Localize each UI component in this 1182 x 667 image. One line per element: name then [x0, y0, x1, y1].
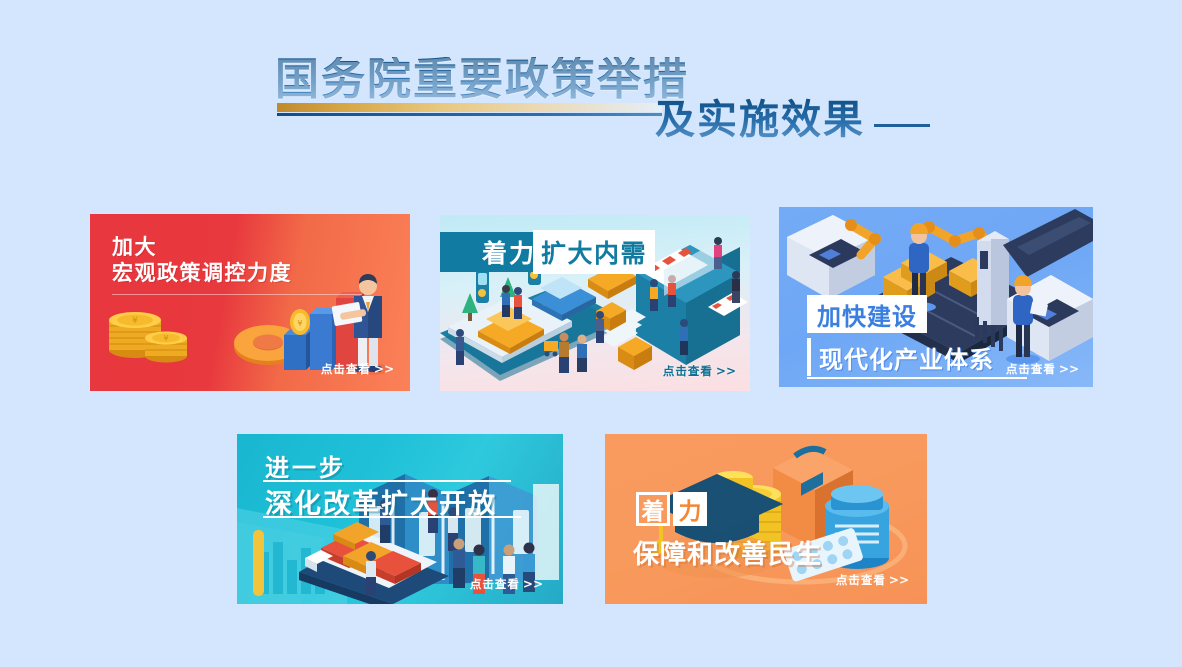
card-title-line-2: 宏观政策调控力度	[112, 260, 292, 286]
cta-link[interactable]: 点击查看>>	[321, 361, 394, 377]
cta-label: 点击查看	[663, 364, 713, 378]
title-gold-accent-bar	[277, 103, 662, 112]
card-title-rule-2	[263, 516, 521, 518]
cta-arrows-icon: >>	[374, 362, 394, 376]
card-title-line-1: 进一步	[265, 448, 346, 483]
svg-text:¥: ¥	[297, 319, 302, 328]
card-title-badge: 着力	[440, 232, 546, 272]
cta-link[interactable]: 点击查看>>	[470, 576, 543, 592]
page-title-line-2: 及实施效果	[655, 98, 865, 142]
card-title-main-box: 扩大内需	[533, 230, 655, 274]
title-blue-rule	[277, 113, 662, 116]
cta-label: 点击查看	[470, 577, 520, 591]
card-modern-industrial-system[interactable]: 加快建设 现代化产业体系 点击查看>>	[779, 207, 1093, 387]
card-title-badge-1-text: 着	[642, 492, 665, 526]
card-title-line-1: 加大	[112, 234, 292, 260]
cta-label: 点击查看	[1006, 362, 1056, 376]
card-title-badge-2: 力	[673, 492, 707, 526]
cta-arrows-icon: >>	[523, 577, 543, 591]
card-title-line-2: 现代化产业体系	[819, 340, 994, 375]
cta-label: 点击查看	[321, 362, 371, 376]
card-title-line-1: 加快建设	[817, 297, 917, 332]
card-expand-domestic-demand[interactable]: 着力 扩大内需 点击查看>>	[440, 215, 750, 391]
card-macro-policy[interactable]: ¥ ¥	[90, 214, 410, 391]
card-title-underline	[112, 294, 362, 295]
svg-text:¥: ¥	[132, 316, 138, 326]
card-title-main-text: 扩大内需	[541, 234, 647, 270]
card-deepen-reform-opening-up[interactable]: 进一步 深化改革扩大开放 点击查看>>	[237, 434, 563, 604]
card-title-badge-1: 着	[636, 492, 670, 526]
cta-link[interactable]: 点击查看>>	[663, 363, 736, 379]
card-title-underline	[807, 377, 1027, 379]
cta-link[interactable]: 点击查看>>	[836, 572, 909, 588]
page-title-line-1: 国务院重要政策举措	[275, 57, 689, 103]
cta-arrows-icon: >>	[889, 573, 909, 587]
card-title-main: 保障和改善民生	[633, 534, 822, 571]
card-title-badge-text: 着力	[482, 234, 536, 270]
card-title-line-1-box: 加快建设	[807, 295, 927, 333]
svg-text:¥: ¥	[163, 334, 168, 343]
card-improve-peoples-livelihood[interactable]: ¥	[605, 434, 927, 604]
title-trailing-dash	[874, 124, 930, 127]
card-title-line-2-box: 现代化产业体系	[807, 338, 994, 376]
cta-link[interactable]: 点击查看>>	[1006, 361, 1079, 377]
cta-arrows-icon: >>	[716, 364, 736, 378]
card-title-badge-2-text: 力	[679, 492, 702, 526]
cta-label: 点击查看	[836, 573, 886, 587]
cta-arrows-icon: >>	[1059, 362, 1079, 376]
card-title: 加大 宏观政策调控力度	[112, 234, 292, 286]
page-header: 国务院重要政策举措 及实施效果	[0, 0, 1182, 190]
